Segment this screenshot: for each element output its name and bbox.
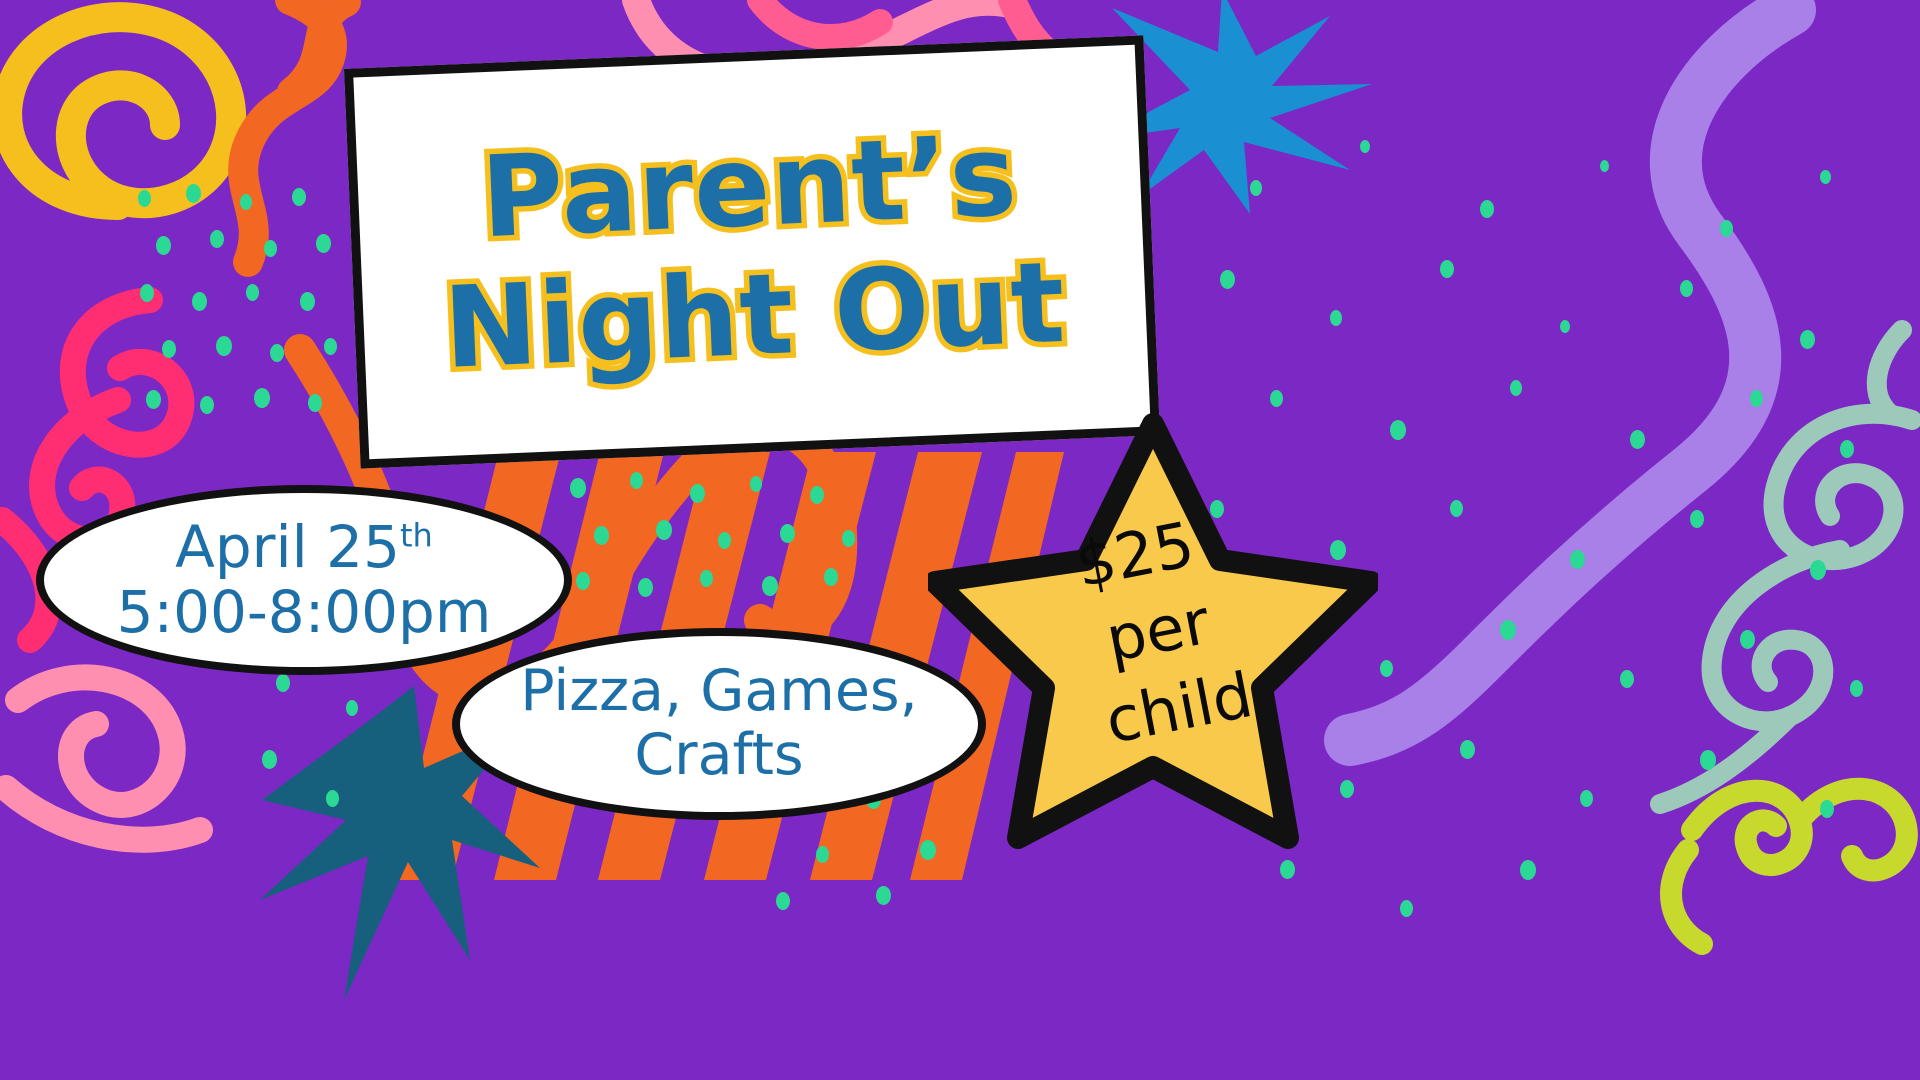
event-date-text: April 25 bbox=[175, 513, 400, 581]
title-card: Parent’s Night Out bbox=[344, 35, 1160, 468]
pink-curl-lower-icon bbox=[6, 677, 200, 839]
flyer-canvas: Parent’s Night Out April 25th 5:00-8:00p… bbox=[0, 0, 1920, 1080]
yellow-spiral-icon bbox=[7, 17, 231, 205]
mint-dots-field-center bbox=[560, 470, 880, 600]
activities-line-1: Pizza, Games, bbox=[520, 660, 917, 724]
date-time-oval: April 25th 5:00-8:00pm bbox=[36, 485, 572, 675]
title-line-2: Night Out bbox=[441, 239, 1068, 394]
mint-dots-field-left bbox=[130, 180, 370, 430]
activities-line-2: Crafts bbox=[634, 724, 803, 788]
event-time: 5:00-8:00pm bbox=[117, 580, 492, 645]
event-date-ordinal: th bbox=[400, 517, 433, 555]
title-line-1: Parent’s bbox=[479, 112, 1020, 263]
activities-oval: Pizza, Games, Crafts bbox=[452, 628, 986, 820]
price-star-badge: $25 per child bbox=[928, 412, 1378, 852]
event-date: April 25th bbox=[175, 515, 433, 580]
price-star-text: $25 per child bbox=[890, 373, 1416, 891]
